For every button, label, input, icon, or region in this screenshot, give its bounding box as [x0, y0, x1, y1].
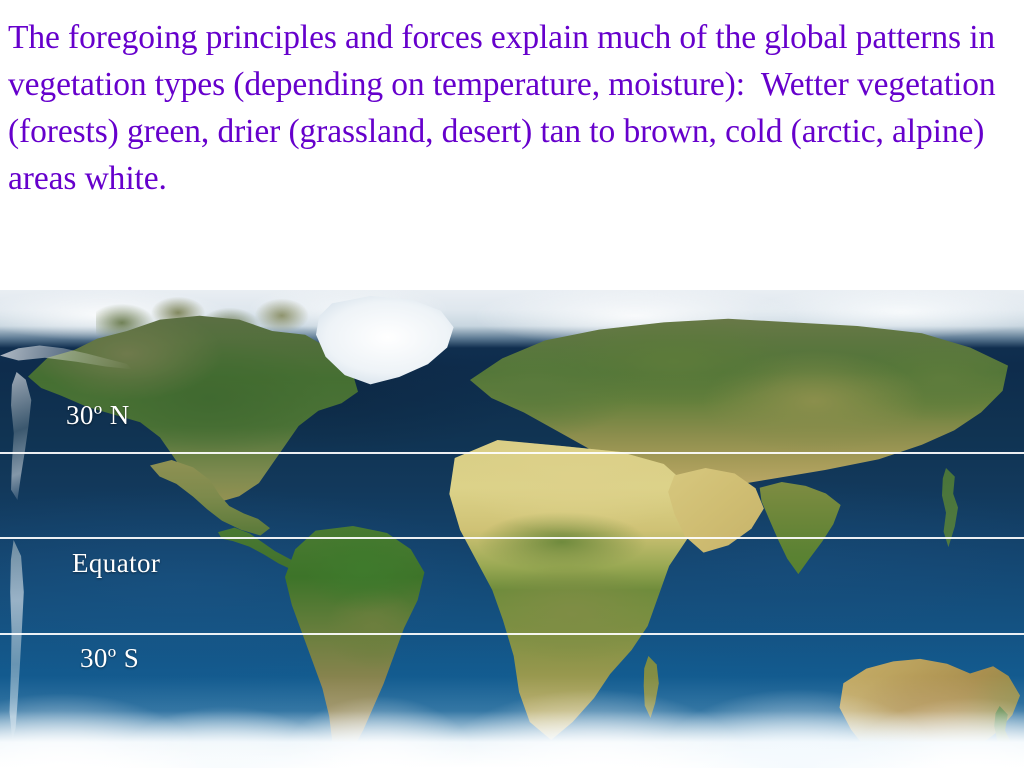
world-map-image: 30º N Equator 30º S: [0, 290, 1024, 768]
slide-caption-text: The foregoing principles and forces expl…: [0, 0, 1010, 290]
latitude-label-30n: 30º N: [66, 400, 130, 431]
slide-canvas: The foregoing principles and forces expl…: [0, 0, 1024, 768]
latitude-line-30s: [0, 633, 1024, 635]
antarctica-ice-sheet: [0, 676, 1024, 768]
latitude-line-equator: [0, 537, 1024, 539]
latitude-label-30s: 30º S: [80, 643, 139, 674]
latitude-label-equator: Equator: [72, 548, 160, 579]
latitude-line-30n: [0, 452, 1024, 454]
